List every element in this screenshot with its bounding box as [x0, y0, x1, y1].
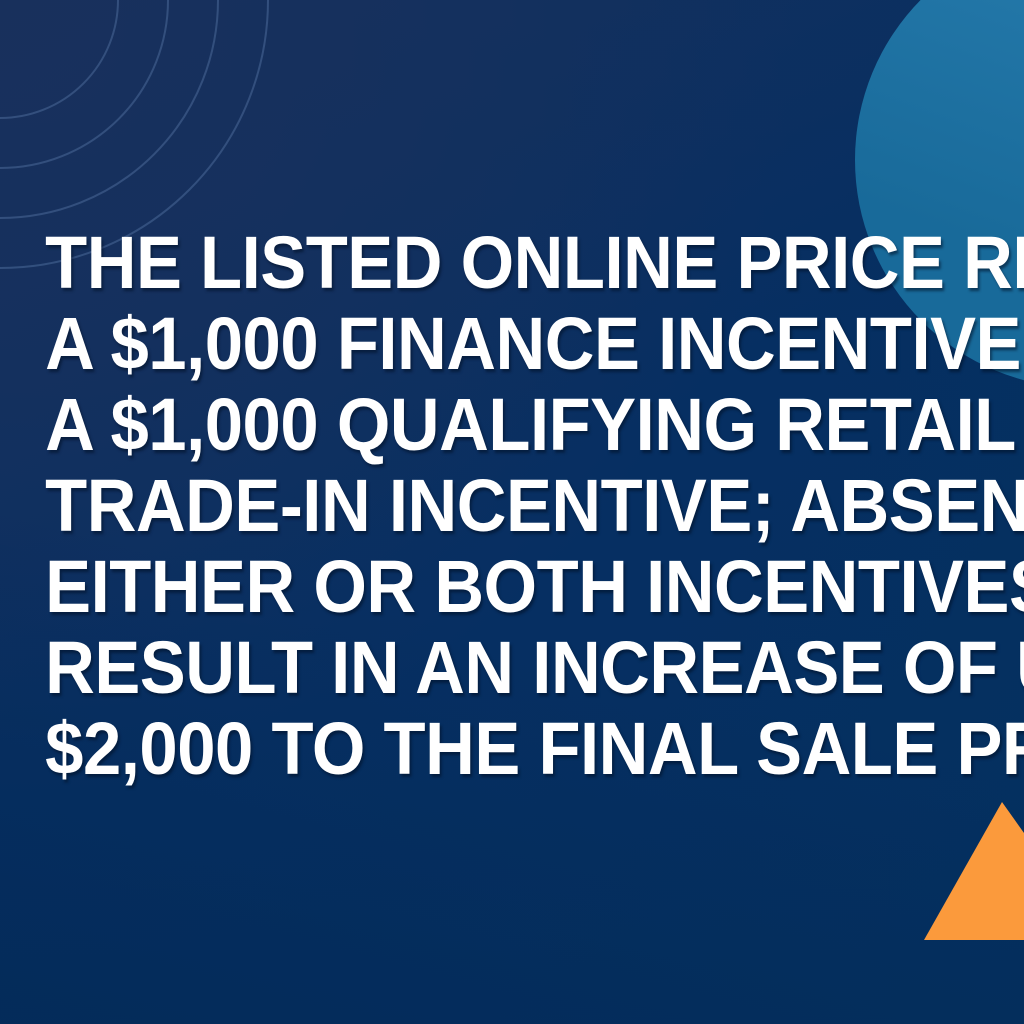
- headline-line-7: $2,000 TO THE FINAL SALE PRICE.: [45, 708, 979, 789]
- headline-line-3: A $1,000 QUALIFYING RETAIL: [45, 384, 979, 465]
- headline-line-6: RESULT IN AN INCREASE OF UP TO: [45, 627, 979, 708]
- accent-triangle-icon: [920, 800, 1024, 940]
- headline-line-2: A $1,000 FINANCE INCENTIVE AND: [45, 303, 979, 384]
- disclaimer-headline: THE LISTED ONLINE PRICE REFLECTS A $1,00…: [36, 222, 988, 789]
- headline-line-1: THE LISTED ONLINE PRICE REFLECTS: [45, 222, 979, 303]
- headline-line-5: EITHER OR BOTH INCENTIVES WILL: [45, 546, 979, 627]
- headline-line-4: TRADE-IN INCENTIVE; ABSENCE OF: [45, 465, 979, 546]
- promo-disclaimer-slide: THE LISTED ONLINE PRICE REFLECTS A $1,00…: [0, 0, 1024, 1024]
